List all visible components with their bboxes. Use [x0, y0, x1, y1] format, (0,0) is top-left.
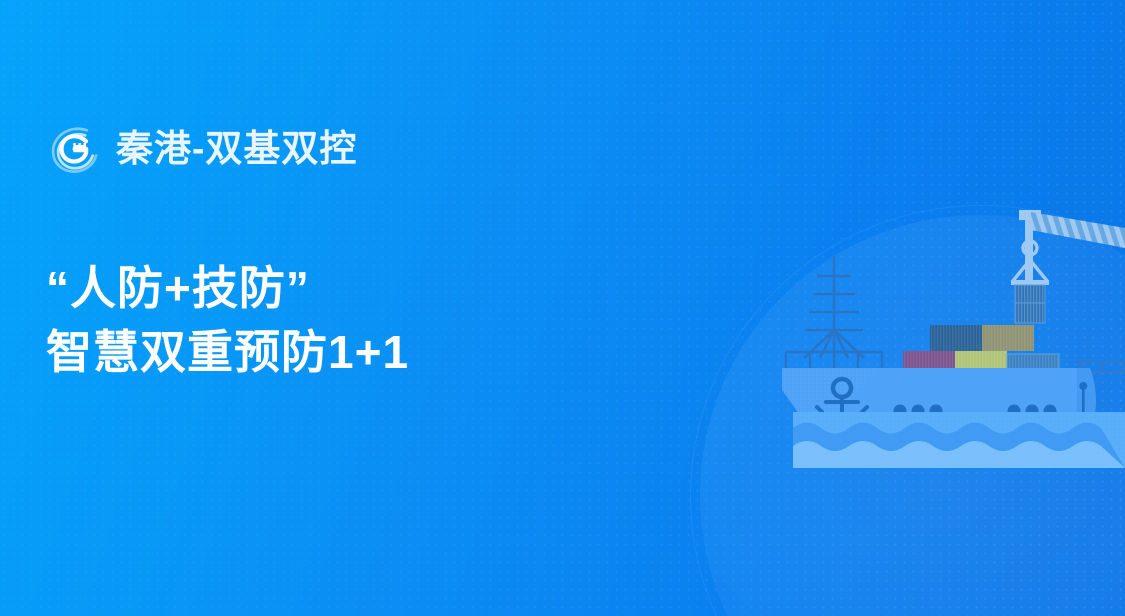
banner-canvas: 秦港-双基双控 “人防+技防” 智慧双重预防1+1 [0, 0, 1125, 616]
headline-line-2: 智慧双重预防1+1 [46, 320, 409, 384]
container-top-right [982, 325, 1034, 351]
container-top-left [930, 325, 982, 351]
brand-name: 秦港-双基双控 [116, 130, 357, 167]
sea-waves [793, 412, 1125, 468]
dockside-crane-icon [1019, 210, 1125, 280]
headline-line-1: “人防+技防” [46, 256, 409, 320]
ship-mast-icon [804, 256, 864, 358]
wave-g-monogram-icon [48, 121, 102, 175]
ship-scene-svg [760, 190, 1125, 490]
foredeck-railing [786, 352, 882, 368]
container-ship-illustration [760, 190, 1125, 490]
brand-lockup[interactable]: 秦港-双基双控 [48, 121, 357, 175]
headline-block: “人防+技防” 智慧双重预防1+1 [46, 256, 409, 384]
